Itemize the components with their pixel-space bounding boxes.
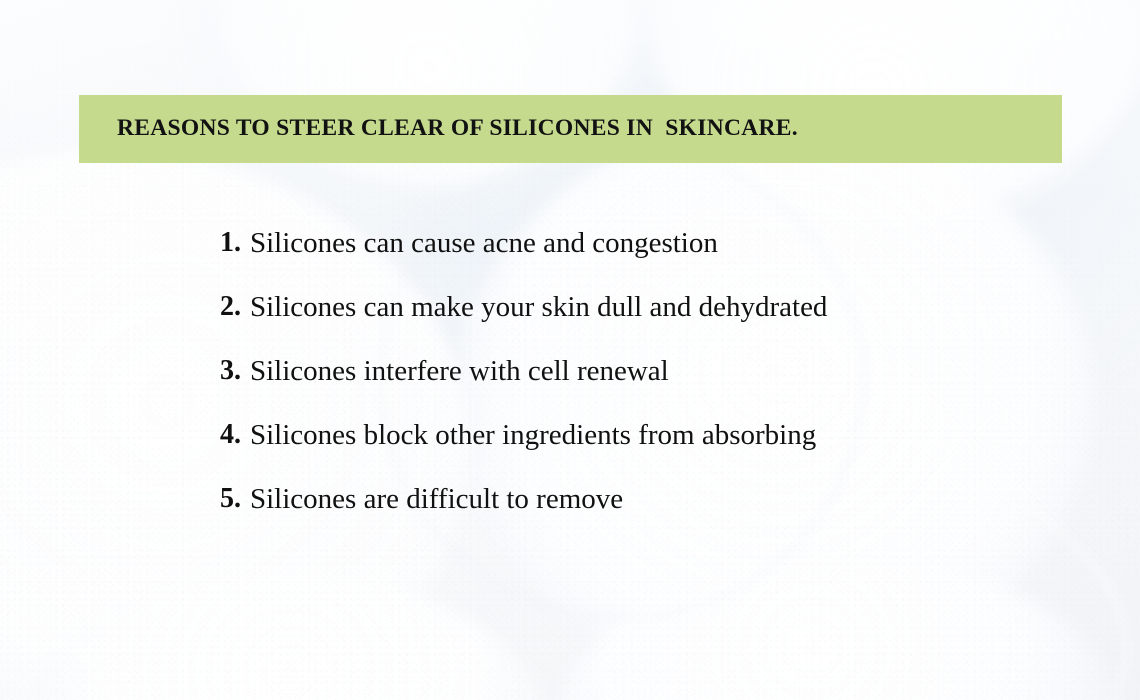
list-item: 3. Silicones interfere with cell renewal [0, 350, 1140, 392]
list-item-text: Silicones interfere with cell renewal [250, 350, 669, 392]
list-item: 1. Silicones can cause acne and congesti… [0, 222, 1140, 264]
list-item: 2. Silicones can make your skin dull and… [0, 286, 1140, 328]
list-item-text: Silicones can make your skin dull and de… [250, 286, 827, 328]
slide-canvas: REASONS TO STEER CLEAR OF SILICONES IN S… [0, 0, 1140, 700]
list-item-text: Silicones can cause acne and congestion [250, 222, 718, 264]
list-item-number: 2. [0, 286, 250, 328]
list-item: 4. Silicones block other ingredients fro… [0, 414, 1140, 456]
title-band: REASONS TO STEER CLEAR OF SILICONES IN S… [79, 95, 1062, 163]
page-title: REASONS TO STEER CLEAR OF SILICONES IN S… [117, 117, 798, 141]
list-item-number: 1. [0, 222, 250, 264]
list-item-number: 3. [0, 350, 250, 392]
list-item-text: Silicones block other ingredients from a… [250, 414, 816, 456]
list-item-number: 5. [0, 478, 250, 520]
reasons-list: 1. Silicones can cause acne and congesti… [0, 222, 1140, 542]
list-item-number: 4. [0, 414, 250, 456]
list-item-text: Silicones are difficult to remove [250, 478, 623, 520]
list-item: 5. Silicones are difficult to remove [0, 478, 1140, 520]
